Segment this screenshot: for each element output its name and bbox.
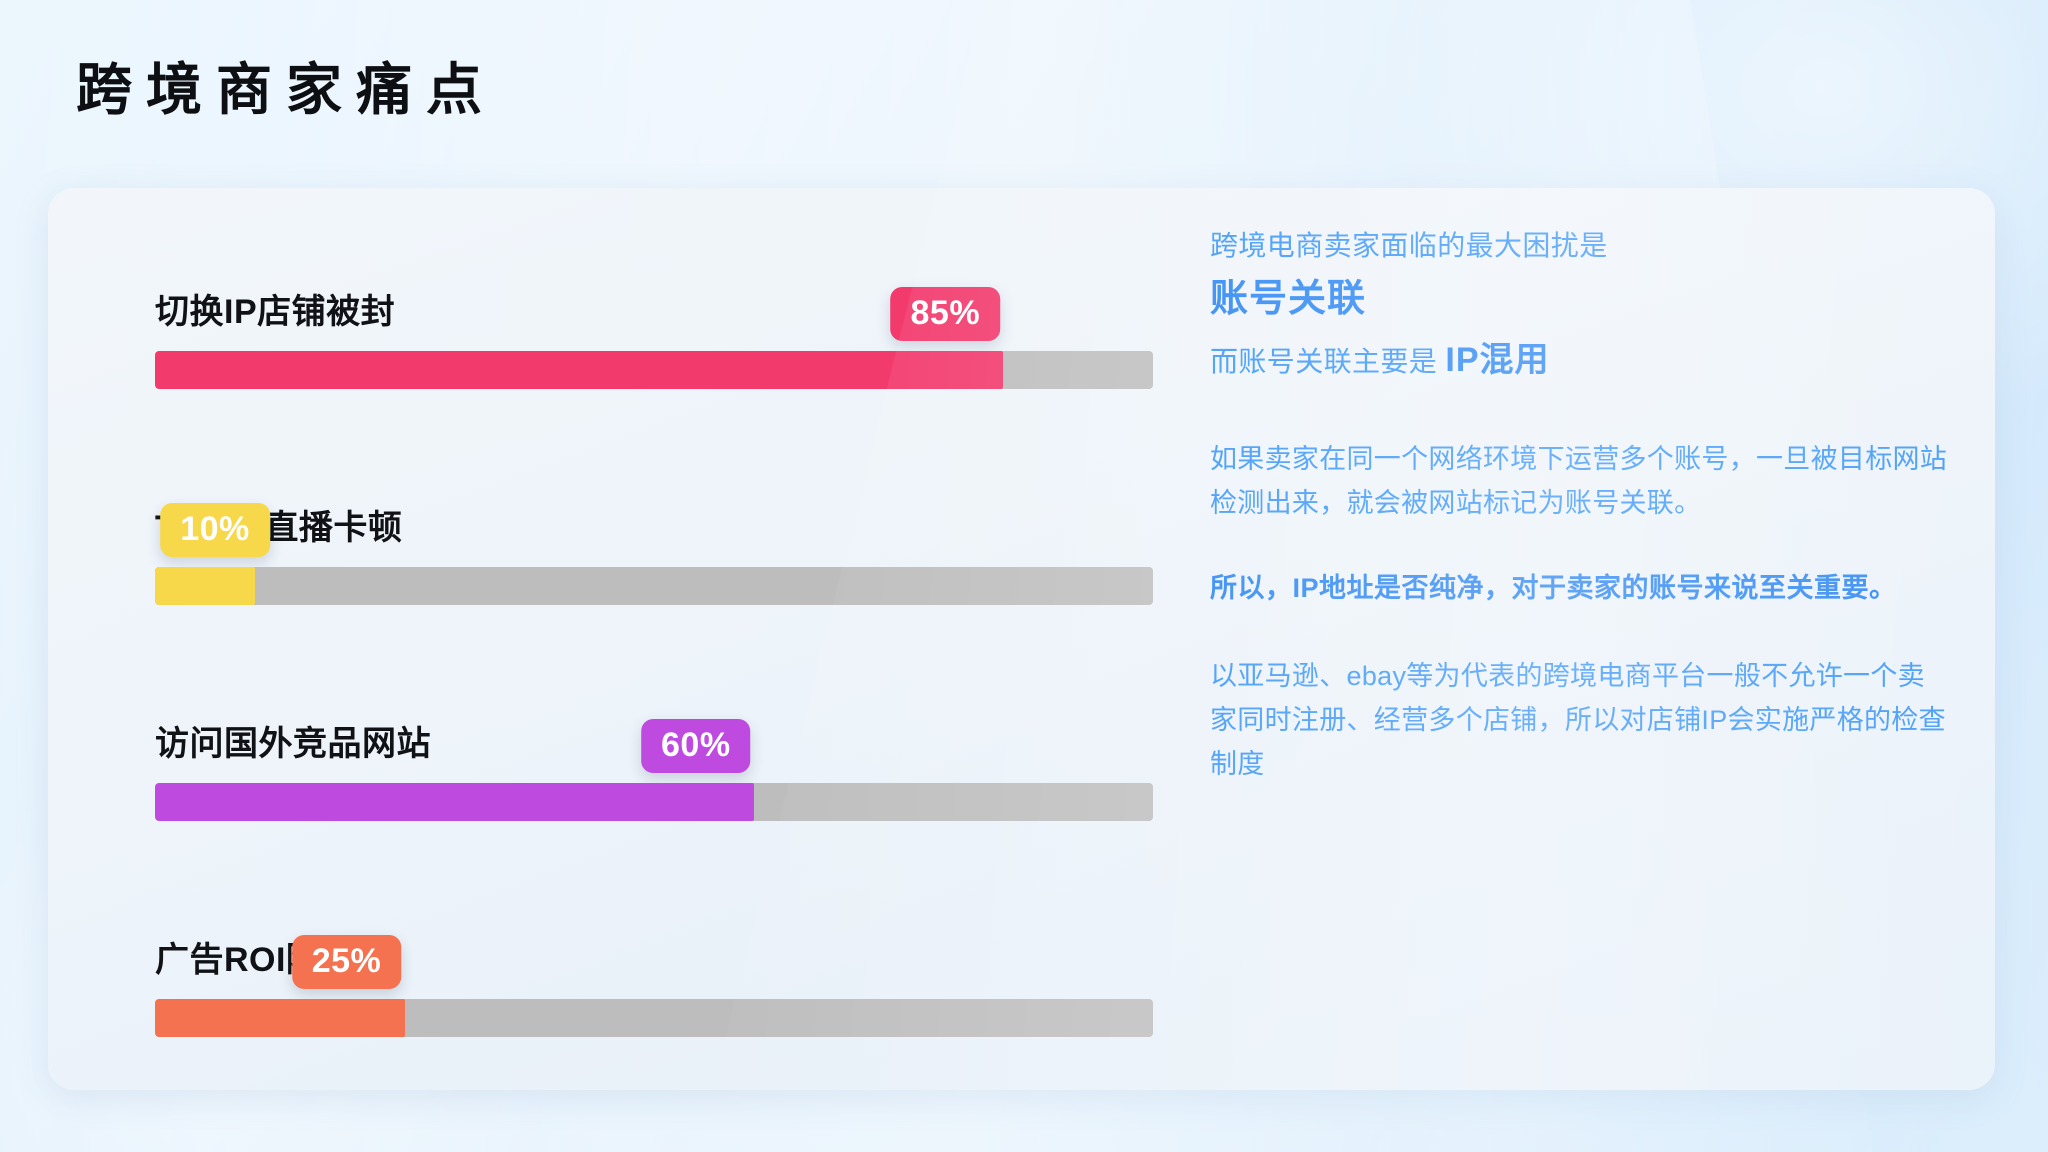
bar-row: 广告ROI降低 25% <box>107 882 1167 1037</box>
spacer <box>1210 386 1952 438</box>
slide-canvas: 跨境商家痛点 切换IP店铺被封 85% TikTok直播卡顿 10% <box>0 0 2048 1152</box>
bar-track <box>155 567 1153 605</box>
lead-line: 跨境电商卖家面临的最大困扰是 <box>1210 226 1952 266</box>
lead-strong-term: 账号关联 <box>1210 272 1952 327</box>
bar-fill <box>155 783 754 821</box>
lead-mixed-highlight: IP混用 <box>1445 341 1549 379</box>
paragraph-1: 如果卖家在同一个网络环境下运营多个账号，一旦被目标网站检测出来，就会被网站标记为… <box>1210 438 1952 525</box>
paragraph-3: 以亚马逊、ebay等为代表的跨境电商平台一般不允许一个卖家同时注册、经营多个店铺… <box>1210 655 1952 786</box>
bar-row: 切换IP店铺被封 85% <box>107 234 1167 389</box>
lead-mixed-line: 而账号关联主要是 IP混用 <box>1210 335 1952 386</box>
bar-fill <box>155 351 1003 389</box>
spacer <box>1210 525 1952 567</box>
explanation-text-panel: 跨境电商卖家面临的最大困扰是 账号关联 而账号关联主要是 IP混用 如果卖家在同… <box>1210 226 1952 786</box>
pain-point-bar-chart: 切换IP店铺被封 85% TikTok直播卡顿 10% 访问国外竞品网站 60% <box>107 234 1167 1044</box>
bar-row: TikTok直播卡顿 10% <box>107 450 1167 605</box>
bar-value-badge: 85% <box>891 287 1001 341</box>
bar-track <box>155 999 1153 1037</box>
content-card: 切换IP店铺被封 85% TikTok直播卡顿 10% 访问国外竞品网站 60% <box>48 188 1995 1090</box>
bar-fill <box>155 999 405 1037</box>
lead-mixed-prefix: 而账号关联主要是 <box>1210 346 1445 377</box>
page-title: 跨境商家痛点 <box>76 62 496 118</box>
bar-track <box>155 351 1153 389</box>
bar-value-badge: 60% <box>641 719 751 773</box>
bar-value-badge: 10% <box>160 503 270 557</box>
paragraph-2: 所以，IP地址是否纯净，对于卖家的账号来说至关重要。 <box>1210 567 1952 611</box>
spacer <box>1210 611 1952 655</box>
bar-label: 访问国外竞品网站 <box>155 716 431 765</box>
bar-fill <box>155 567 255 605</box>
bar-track <box>155 783 1153 821</box>
bar-row: 访问国外竞品网站 60% <box>107 666 1167 821</box>
bar-value-badge: 25% <box>292 935 402 989</box>
bar-label: 切换IP店铺被封 <box>155 284 395 333</box>
